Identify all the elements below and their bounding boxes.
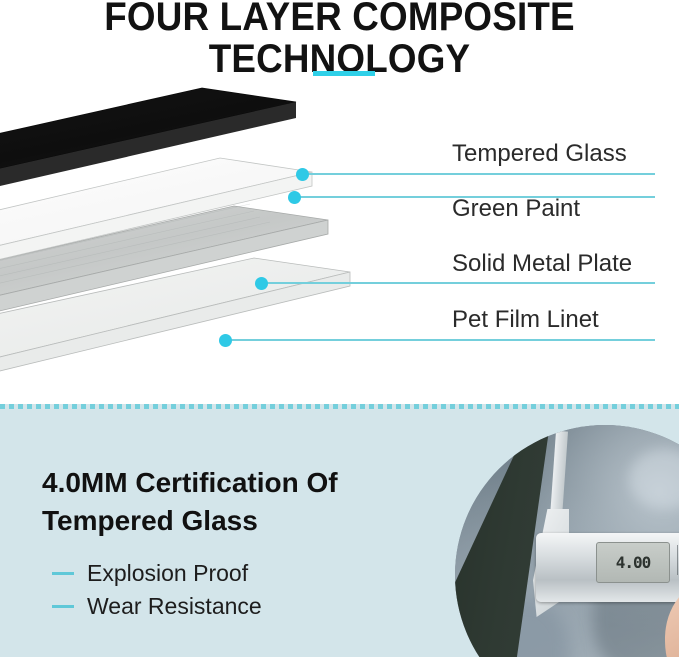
product-infographic-page: FOUR LAYER COMPOSITE TECHNOLOGY Tempered…	[0, 0, 679, 657]
list-item: Wear Resistance	[52, 591, 402, 621]
certification-text-block: 4.0MM Certification Of Tempered Glass Ex…	[42, 464, 402, 624]
callout-label-green-paint: Green Paint	[452, 195, 580, 223]
callout-label-solid-metal-plate: Solid Metal Plate	[452, 250, 632, 278]
callout-line-solid-metal-plate	[266, 282, 655, 284]
layered-plate-illustration	[0, 58, 490, 404]
dash-bullet-icon	[52, 605, 74, 608]
feature-list: Explosion Proof Wear Resistance	[52, 558, 402, 621]
title-accent-bar	[313, 71, 375, 76]
callout-line-tempered-glass	[307, 173, 655, 175]
callout-line-pet-film-linet	[230, 339, 655, 341]
feature-label: Explosion Proof	[87, 558, 248, 588]
callout-label-tempered-glass: Tempered Glass	[452, 140, 627, 168]
feature-label: Wear Resistance	[87, 591, 262, 621]
section-dashed-divider	[0, 404, 679, 409]
page-title: FOUR LAYER COMPOSITE TECHNOLOGY	[27, 0, 652, 80]
callout-label-pet-film-linet: Pet Film Linet	[452, 306, 599, 334]
callout-dot-icon-pet-film-linet	[219, 334, 232, 347]
four-layer-technology-section: FOUR LAYER COMPOSITE TECHNOLOGY Tempered…	[0, 0, 679, 404]
section-title-block: FOUR LAYER COMPOSITE TECHNOLOGY	[0, 0, 679, 80]
callout-dot-icon-green-paint	[288, 191, 301, 204]
dash-bullet-icon	[52, 572, 74, 575]
callout-dot-icon-solid-metal-plate	[255, 277, 268, 290]
caliper-lcd-display: 4.00	[596, 542, 670, 583]
certification-heading: 4.0MM Certification Of Tempered Glass	[42, 464, 402, 540]
callout-dot-icon-tempered-glass	[296, 168, 309, 181]
caliper-measuring-glass-photo: 4.00	[455, 425, 679, 657]
caliper-lcd-value: 4.00	[616, 553, 651, 572]
list-item: Explosion Proof	[52, 558, 402, 588]
